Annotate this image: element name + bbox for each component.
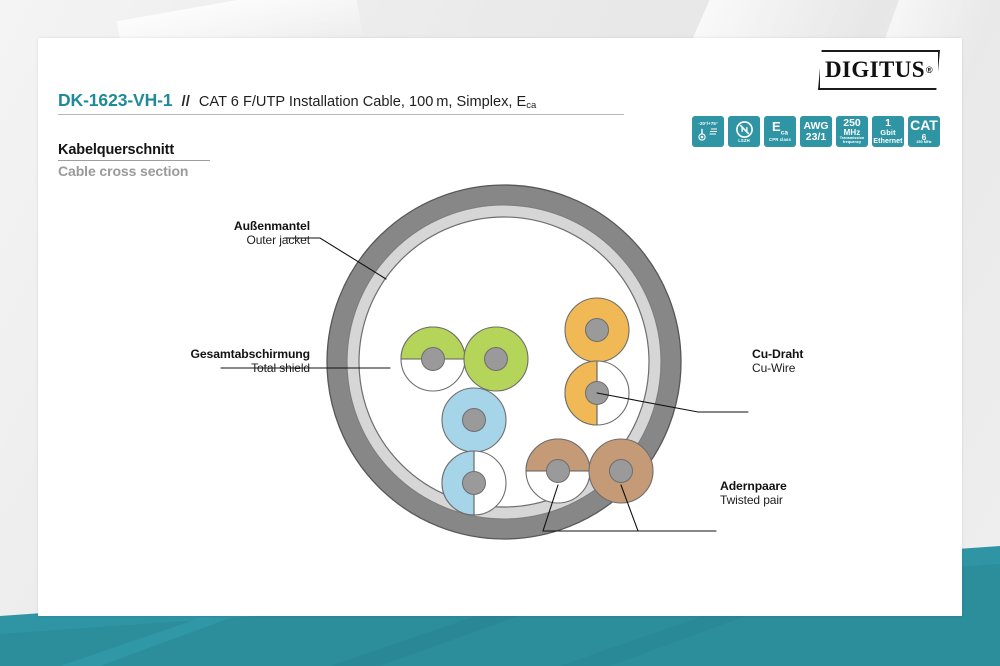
section-heading: Kabelquerschnitt Cable cross section bbox=[58, 142, 210, 179]
badge-awg: AWG 23/1 bbox=[800, 116, 832, 147]
callout-cu-wire-de: Cu-Draht bbox=[752, 347, 892, 361]
badge-temperature-range: -20°/+75° bbox=[692, 116, 724, 147]
section-heading-rule bbox=[58, 160, 210, 161]
core-interior bbox=[359, 217, 649, 507]
digitus-logo: DIGITUS® bbox=[818, 50, 940, 90]
badge-temperature-label: -20°/+75° bbox=[698, 122, 717, 127]
badge-lszh: LSZH bbox=[728, 116, 760, 147]
badge-ethernet-unit: Gbit bbox=[880, 129, 895, 137]
registered-trademark-icon: ® bbox=[926, 65, 933, 75]
wire-green-solid bbox=[464, 327, 528, 391]
callout-outer-jacket-en: Outer jacket bbox=[190, 233, 310, 247]
conductor-core bbox=[485, 348, 508, 371]
product-title-row: DK-1623-VH-1 // CAT 6 F/UTP Installation… bbox=[58, 90, 942, 111]
product-description-subscript: ca bbox=[526, 100, 536, 111]
product-description: CAT 6 F/UTP Installation Cable, 100 m, S… bbox=[199, 94, 536, 110]
callout-outer-jacket-de: Außenmantel bbox=[190, 219, 310, 233]
badge-eca-letter: E bbox=[772, 119, 781, 134]
conductor-core bbox=[463, 409, 486, 432]
conductor-core bbox=[547, 460, 570, 483]
wire-orange-solid bbox=[565, 298, 629, 362]
badge-eca-symbol: Eca bbox=[772, 120, 788, 137]
callout-twisted-pair-de: Adernpaare bbox=[720, 479, 860, 493]
outer-jacket-ring bbox=[327, 185, 681, 539]
logo-text-label: DIGITUS bbox=[825, 57, 925, 83]
product-description-main: CAT 6 F/UTP Installation Cable, 100 m, S… bbox=[199, 94, 526, 110]
conductor-core bbox=[610, 460, 633, 483]
badge-category: CAT 6 250 MHz bbox=[908, 116, 940, 147]
leader-line-cu-wire bbox=[597, 393, 748, 412]
leader-line-twisted-pair-b bbox=[621, 485, 716, 531]
conductor-core bbox=[422, 348, 445, 371]
section-heading-de: Kabelquerschnitt bbox=[58, 142, 210, 158]
callout-cu-wire: Cu-Draht Cu-Wire bbox=[752, 347, 892, 375]
badge-awg-value: 23/1 bbox=[806, 132, 826, 143]
no-halogen-icon bbox=[735, 120, 754, 139]
page-root: DIGITUS® DK-1623-VH-1 // CAT 6 F/UTP Ins… bbox=[0, 0, 1000, 666]
badge-category-caption: 250 MHz bbox=[916, 141, 931, 145]
wire-blue-solid bbox=[442, 388, 506, 452]
conductor-core bbox=[586, 382, 609, 405]
wire-orange-white bbox=[565, 361, 629, 425]
callout-twisted-pair-en: Twisted pair bbox=[720, 493, 860, 507]
badge-frequency-caption: Transmission frequency bbox=[836, 137, 868, 145]
badge-frequency-value: 250 bbox=[843, 118, 861, 129]
callout-total-shield: Gesamtabschirmung Total shield bbox=[98, 347, 310, 375]
product-sku: DK-1623-VH-1 bbox=[58, 90, 173, 111]
wire-blue-white bbox=[442, 451, 506, 515]
logo-wordmark: DIGITUS® bbox=[818, 50, 940, 90]
badge-ethernet-label: Ethernet bbox=[873, 138, 902, 145]
callout-outer-jacket: Außenmantel Outer jacket bbox=[190, 219, 310, 247]
badge-awg-label: AWG bbox=[803, 121, 828, 132]
callout-twisted-pair: Adernpaare Twisted pair bbox=[720, 479, 860, 507]
wire-brown-solid bbox=[589, 439, 653, 503]
title-underline-rule bbox=[58, 114, 624, 115]
badge-category-label: CAT bbox=[910, 118, 938, 132]
wire-brown-white bbox=[526, 439, 590, 503]
badge-frequency: 250 MHz Transmission frequency bbox=[836, 116, 868, 147]
wire-green-white bbox=[401, 327, 465, 391]
conductor-core bbox=[463, 472, 486, 495]
content-card: DIGITUS® DK-1623-VH-1 // CAT 6 F/UTP Ins… bbox=[38, 38, 962, 616]
leader-line-twisted-pair-a bbox=[543, 485, 678, 531]
feature-badge-row: -20°/+75° LSZH Eca CPR class bbox=[692, 116, 940, 147]
callout-cu-wire-en: Cu-Wire bbox=[752, 361, 892, 375]
callout-total-shield-de: Gesamtabschirmung bbox=[98, 347, 310, 361]
title-separator: // bbox=[182, 93, 190, 110]
badge-lszh-label: LSZH bbox=[738, 139, 750, 143]
total-shield-ring bbox=[347, 205, 661, 519]
badge-ethernet-value: 1 bbox=[885, 118, 891, 129]
badge-ethernet: 1 Gbit Ethernet bbox=[872, 116, 904, 147]
badge-eca-subscript: ca bbox=[781, 130, 788, 137]
badge-cpr-class-label: CPR class bbox=[769, 138, 791, 142]
callout-total-shield-en: Total shield bbox=[98, 361, 310, 375]
badge-cpr-class: Eca CPR class bbox=[764, 116, 796, 147]
conductor-core bbox=[586, 319, 609, 342]
section-heading-en: Cable cross section bbox=[58, 163, 210, 179]
thermometer-icon bbox=[695, 127, 721, 141]
